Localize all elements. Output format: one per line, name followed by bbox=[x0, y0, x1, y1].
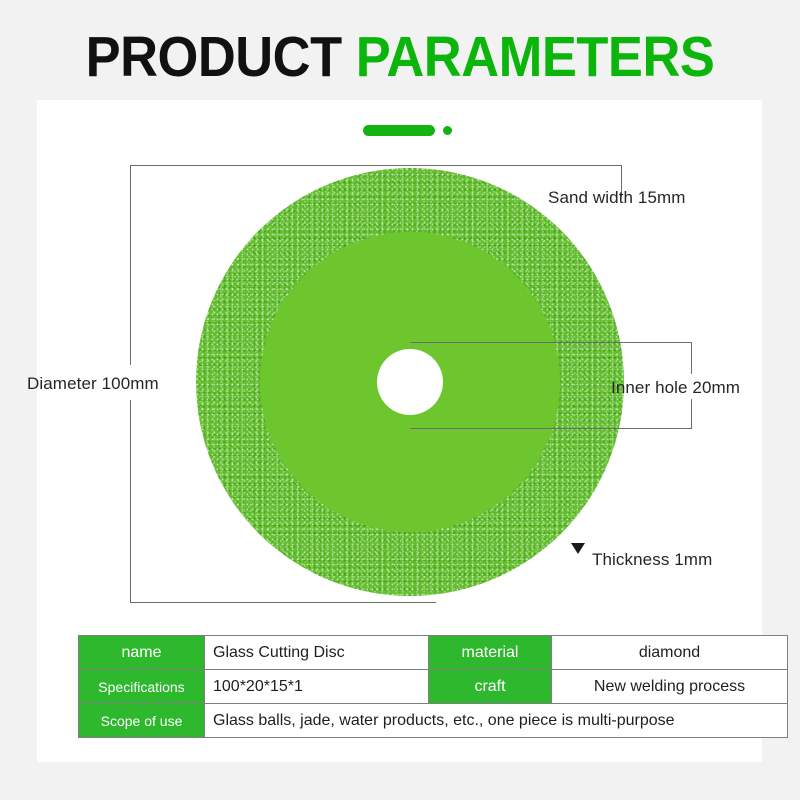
spec-key-scope-of-use: Scope of use bbox=[79, 704, 205, 738]
label-thickness: Thickness 1mm bbox=[592, 550, 712, 570]
spec-key-material: material bbox=[429, 636, 552, 670]
leader-line-inner-hole-right-lower bbox=[691, 399, 692, 429]
spec-value-name: Glass Cutting Disc bbox=[205, 636, 429, 670]
table-row: Specifications 100*20*15*1 craft New wel… bbox=[79, 670, 788, 704]
leader-line-diameter-upper bbox=[130, 165, 131, 365]
page-title-primary: PRODUCT bbox=[86, 25, 342, 89]
label-diameter: Diameter 100mm bbox=[27, 374, 159, 394]
table-row: name Glass Cutting Disc material diamond bbox=[79, 636, 788, 670]
specification-table: name Glass Cutting Disc material diamond… bbox=[78, 635, 788, 738]
label-inner-hole: Inner hole 20mm bbox=[611, 378, 740, 398]
leader-line-inner-hole-top bbox=[410, 342, 692, 343]
thickness-arrow-icon bbox=[571, 543, 585, 554]
page-title-accent: PARAMETERS bbox=[356, 25, 715, 89]
spec-value-material: diamond bbox=[552, 636, 788, 670]
leader-line-inner-hole-right-upper bbox=[691, 342, 692, 374]
spec-value-craft: New welding process bbox=[552, 670, 788, 704]
disc-center-hole bbox=[377, 349, 443, 415]
leader-line-inner-hole-bottom bbox=[410, 428, 692, 429]
spec-key-craft: craft bbox=[429, 670, 552, 704]
table-row: Scope of use Glass balls, jade, water pr… bbox=[79, 704, 788, 738]
page-title: PRODUCT PARAMETERS bbox=[32, 26, 768, 88]
leader-line-diameter-lower bbox=[130, 400, 131, 603]
spec-key-specifications: Specifications bbox=[79, 670, 205, 704]
spec-value-specifications: 100*20*15*1 bbox=[205, 670, 429, 704]
spec-key-name: name bbox=[79, 636, 205, 670]
label-sand-width: Sand width 15mm bbox=[548, 188, 686, 208]
divider-bar-icon bbox=[363, 125, 435, 136]
cutting-disc-illustration bbox=[196, 168, 624, 596]
spec-value-scope-of-use: Glass balls, jade, water products, etc.,… bbox=[205, 704, 788, 738]
decorative-divider bbox=[363, 125, 453, 136]
leader-line-sand-width-horizontal bbox=[130, 165, 622, 166]
leader-line-diameter-bottom bbox=[130, 602, 436, 603]
divider-dot-icon bbox=[443, 126, 452, 135]
